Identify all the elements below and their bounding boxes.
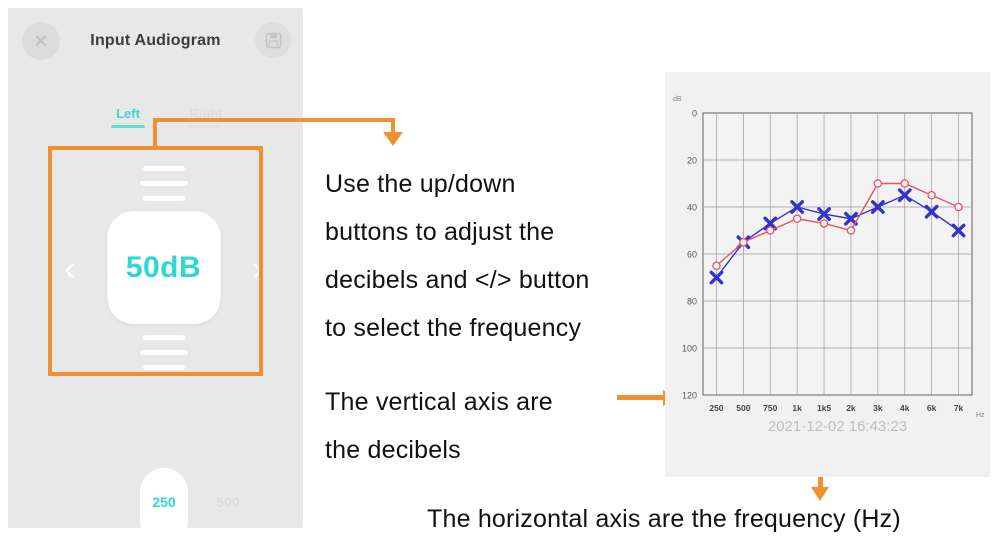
annotation-stepper-line-3: decibels and </> button [325,256,590,304]
data-point-circle [874,180,881,187]
annotation-vertical-axis-line-1: The vertical axis are [325,378,553,426]
phone-header: ✕ Input Audiogram [8,8,303,66]
screenshot-stage: ✕ Input Audiogram Left Right ‹ 50dB [0,0,1000,544]
annotation-vertical-axis-line-2: the decibels [325,426,553,474]
horizontal-axis-arrow-head [811,487,829,501]
stepper-callout-line [153,118,395,122]
data-point-circle [820,220,827,227]
data-point-circle [767,227,774,234]
annotation-horizontal-axis: The horizontal axis are the frequency (H… [427,495,901,543]
x-axis-unit-label: Hz [976,412,985,419]
annotation-vertical-axis: The vertical axis are the decibels [325,378,553,474]
y-tick-label: 120 [682,391,697,401]
x-tick-label: 2k [846,403,856,413]
y-tick-label: 80 [687,297,697,307]
audiogram-chart: 0204060801001202505007501k1k52k3k4k6k7kd… [665,72,990,477]
y-tick-label: 40 [687,203,697,213]
x-tick-label: 1k5 [817,403,831,413]
frequency-pill-next[interactable]: 500 [204,468,252,528]
annotation-stepper-line-1: Use the up/down [325,160,590,208]
chart-timestamp: 2021-12-02 16:43:23 [768,418,907,435]
x-tick-label: 7k [954,403,964,413]
x-tick-label: 500 [736,403,750,413]
x-tick-label: 250 [709,403,723,413]
audiogram-svg: 0204060801001202505007501k1k52k3k4k6k7kd… [665,72,990,477]
data-point-circle [794,215,801,222]
data-point-circle [713,262,720,269]
save-floppy-icon[interactable] [255,22,291,58]
data-point-circle [901,180,908,187]
data-point-circle [955,203,962,210]
x-tick-label: 6k [927,403,937,413]
y-tick-label: 100 [682,344,697,354]
y-tick-label: 20 [687,156,697,166]
data-point-circle [740,239,747,246]
x-tick-label: 4k [900,403,910,413]
vertical-axis-arrow-shaft [617,395,669,400]
x-tick-label: 3k [873,403,883,413]
stepper-callout-arrowhead [383,132,403,146]
annotation-stepper-line-2: buttons to adjust the [325,208,590,256]
data-point-circle [847,227,854,234]
frequency-pill-selected[interactable]: 250 [140,468,188,528]
y-tick-label: 0 [692,109,697,119]
x-tick-label: 750 [763,403,777,413]
annotation-stepper: Use the up/down buttons to adjust the de… [325,160,590,352]
x-tick-label: 1k [792,403,802,413]
tab-right-underline [186,125,220,128]
y-tick-label: 60 [687,250,697,260]
frequency-selector: 250 500 [8,448,303,528]
annotation-stepper-line-4: to select the frequency [325,304,590,352]
y-axis-unit-label: dB [673,96,682,103]
tab-left-underline [111,125,145,128]
data-point-circle [928,192,935,199]
stepper-highlight-box [48,146,263,376]
stepper-callout-stem [153,118,157,148]
